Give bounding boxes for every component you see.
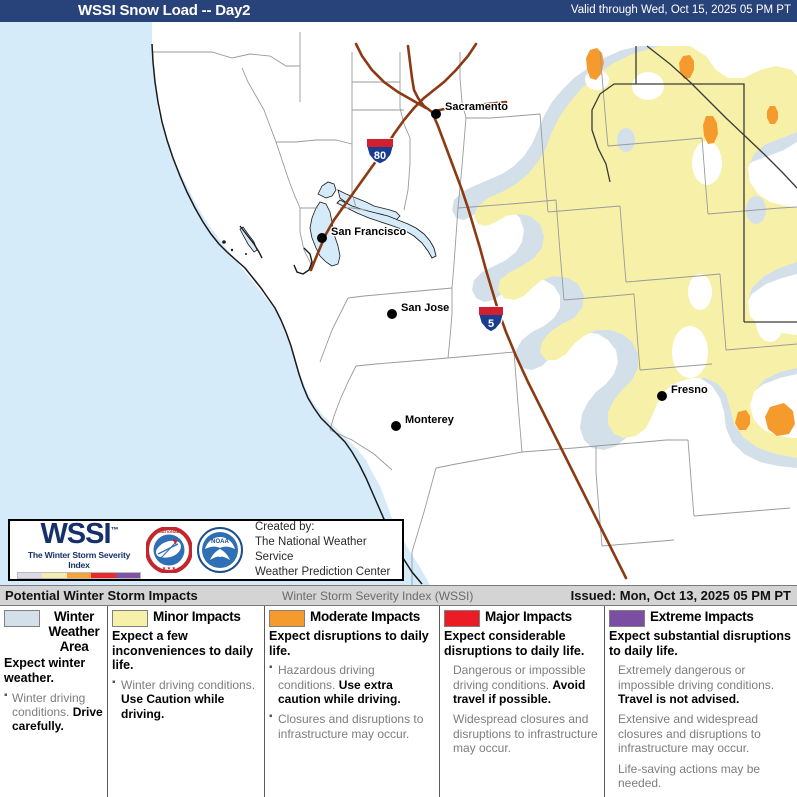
wssi-bar-winter: [18, 573, 42, 578]
wssi-trademark: ™: [111, 526, 118, 535]
city-label-san-jose: San Jose: [401, 302, 449, 314]
legend-lead-extreme-impacts: Expect substantial disruptions to daily …: [609, 629, 793, 658]
legend-bullet: Hazardous driving conditions. Use extra …: [269, 663, 435, 706]
city-dot-san-francisco: [317, 233, 327, 243]
legend-column-major-impacts: Major Impacts Expect considerable disrup…: [440, 606, 605, 797]
legend-column-extreme-impacts: Extreme Impacts Expect substantial disru…: [605, 606, 797, 797]
city-label-monterey: Monterey: [405, 414, 455, 426]
legend-bullet: Dangerous or impossible driving conditio…: [444, 663, 600, 706]
legend-bullet-gray-text: Extensive and widespread closures and di…: [618, 712, 761, 755]
legend-bullet-gray-text: Life-saving actions may be needed.: [618, 762, 760, 790]
legend-bullets-extreme-impacts: Extremely dangerous or impossible drivin…: [609, 663, 793, 790]
sub-header-middle-label: Winter Storm Severity Index (WSSI): [282, 589, 473, 603]
city-dot-fresno: [657, 391, 667, 401]
created-by-block: Created by: The National Weather Service…: [255, 520, 402, 581]
legend-header-winter-weather: Winter Weather Area: [4, 609, 103, 654]
legend-bullet: Life-saving actions may be needed.: [609, 762, 793, 791]
wssi-bar-moderate: [67, 573, 91, 578]
farallon-island: [222, 240, 226, 244]
legend-title-extreme-impacts: Extreme Impacts: [650, 609, 754, 624]
wssi-logo: WSSI™ The Winter Storm Severity Index: [17, 521, 141, 579]
impact-legend: Winter Weather Area Expect winter weathe…: [0, 606, 797, 797]
legend-header-major-impacts: Major Impacts: [444, 609, 600, 627]
map-graphic: 80 5 Sacramento San Francisco San Jose: [0, 22, 797, 585]
legend-lead-winter-weather: Expect winter weather.: [4, 656, 103, 685]
legend-bullet-bold-text: Travel is not advised.: [618, 692, 739, 706]
legend-bullet-bold-text: Use Caution while driving.: [121, 692, 224, 720]
created-by-line-2: The National Weather Service: [255, 535, 402, 565]
wssi-bar-minor: [42, 573, 66, 578]
legend-bullet-winter-weather: Winter driving conditions. Drive careful…: [4, 691, 103, 734]
wssi-wordmark: WSSI™: [17, 521, 141, 549]
city-label-sacramento: Sacramento: [445, 101, 508, 113]
legend-bullet: Winter driving conditions. Use Caution w…: [112, 678, 260, 721]
legend-lead-minor-impacts: Expect a few inconveniences to daily lif…: [112, 629, 260, 673]
farallon-island-3: [245, 253, 247, 255]
valid-through-text: Valid through Wed, Oct 15, 2025 05 PM PT: [571, 4, 791, 16]
legend-swatch-major-impacts: [444, 610, 480, 627]
nws-seal-logo: ★ ★ ★ NATIONAL: [146, 527, 192, 573]
city-dot-san-jose: [387, 309, 397, 319]
legend-lead-major-impacts: Expect considerable disruptions to daily…: [444, 629, 600, 658]
created-by-line-1: Created by:: [255, 520, 402, 535]
svg-text:NATIONAL: NATIONAL: [159, 529, 180, 534]
legend-bullet-gray-text: Closures and disruptions to infrastructu…: [278, 712, 423, 740]
svg-text:80: 80: [374, 150, 386, 162]
title-bar: WSSI Snow Load -- Day2 Valid through Wed…: [0, 0, 797, 22]
svg-text:5: 5: [488, 318, 494, 330]
legend-swatch-extreme-impacts: [609, 610, 645, 627]
legend-bullets-moderate-impacts: Hazardous driving conditions. Use extra …: [269, 663, 435, 741]
wssi-bar-major: [91, 573, 115, 578]
legend-bullet: Closures and disruptions to infrastructu…: [269, 712, 435, 741]
wssi-tagline: The Winter Storm Severity Index: [17, 550, 141, 570]
legend-bullet: Extensive and widespread closures and di…: [609, 712, 793, 755]
city-label-san-francisco: San Francisco: [331, 226, 406, 238]
legend-swatch-moderate-impacts: [269, 610, 305, 627]
svg-text:★ ★ ★: ★ ★ ★: [161, 566, 176, 571]
legend-title-moderate-impacts: Moderate Impacts: [310, 609, 420, 624]
sub-header-bar: Potential Winter Storm Impacts Winter St…: [0, 585, 797, 606]
legend-title-major-impacts: Major Impacts: [485, 609, 572, 624]
legend-header-minor-impacts: Minor Impacts: [112, 609, 260, 627]
sub-header-issued-label: Issued: Mon, Oct 13, 2025 05 PM PT: [571, 588, 791, 603]
legend-header-moderate-impacts: Moderate Impacts: [269, 609, 435, 627]
farallon-island-2: [231, 249, 233, 251]
legend-title-winter-weather: Winter Weather Area: [45, 609, 103, 654]
legend-swatch-winter-weather: [4, 610, 40, 627]
legend-bullets-minor-impacts: Winter driving conditions. Use Caution w…: [112, 678, 260, 721]
legend-lead-moderate-impacts: Expect disruptions to daily life.: [269, 629, 435, 658]
wssi-wordmark-text: WSSI: [40, 518, 110, 550]
created-by-line-3: Weather Prediction Center: [255, 565, 402, 580]
city-dot-sacramento: [431, 109, 441, 119]
credit-box: WSSI™ The Winter Storm Severity Index ★ …: [8, 519, 404, 581]
city-label-fresno: Fresno: [671, 384, 708, 396]
sub-header-left-label: Potential Winter Storm Impacts: [5, 588, 198, 603]
legend-bullet-gray-text: Winter driving conditions.: [121, 678, 255, 692]
city-dot-monterey: [391, 421, 401, 431]
wssi-snow-load-map-page: WSSI Snow Load -- Day2 Valid through Wed…: [0, 0, 797, 797]
noaa-seal-logo: NOAA: [197, 527, 243, 573]
map-canvas[interactable]: 80 5 Sacramento San Francisco San Jose: [0, 22, 797, 585]
legend-header-extreme-impacts: Extreme Impacts: [609, 609, 793, 627]
legend-swatch-minor-impacts: [112, 610, 148, 627]
legend-bullet: Extremely dangerous or impossible drivin…: [609, 663, 793, 706]
legend-column-minor-impacts: Minor Impacts Expect a few inconvenience…: [108, 606, 265, 797]
svg-text:NOAA: NOAA: [211, 539, 229, 545]
legend-bullet-gray-text: Widespread closures and disruptions to i…: [453, 712, 598, 755]
legend-bullets-major-impacts: Dangerous or impossible driving conditio…: [444, 663, 600, 755]
wssi-color-bar: [17, 572, 141, 579]
legend-column-winter-weather: Winter Weather Area Expect winter weathe…: [0, 606, 108, 797]
legend-title-minor-impacts: Minor Impacts: [153, 609, 241, 624]
legend-bullet-gray-text: Extremely dangerous or impossible drivin…: [618, 663, 774, 691]
wssi-bar-extreme: [116, 573, 140, 578]
legend-bullet: Widespread closures and disruptions to i…: [444, 712, 600, 755]
page-title: WSSI Snow Load -- Day2: [78, 2, 250, 19]
legend-column-moderate-impacts: Moderate Impacts Expect disruptions to d…: [265, 606, 440, 797]
